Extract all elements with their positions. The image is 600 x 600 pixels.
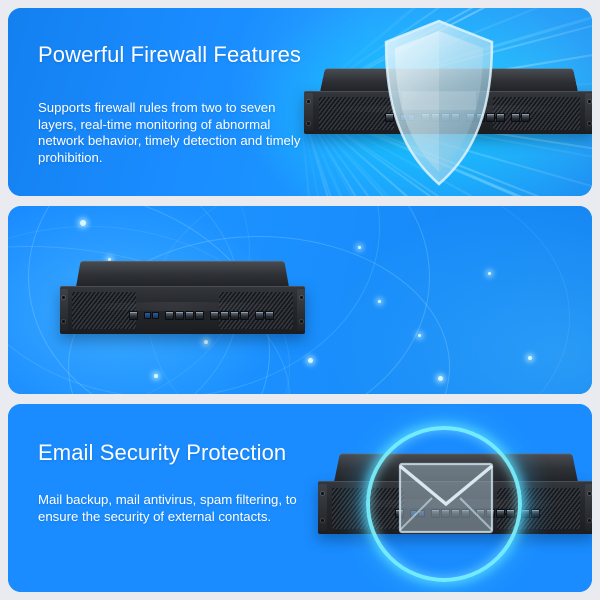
appliance-top-2 <box>76 261 289 287</box>
panel1-body: Supports firewall rules from two to seve… <box>38 100 310 166</box>
port-row-2 <box>129 305 232 326</box>
panel3-body: Mail backup, mail antivirus, spam filter… <box>38 492 310 525</box>
rack-ear-right-2 <box>297 289 305 332</box>
feature-panel-board: Powerful Firewall Features Supports fire… <box>0 0 600 600</box>
rack-ear-right-3 <box>585 484 592 531</box>
vent-grille-left-2 <box>72 292 136 329</box>
glow-ring-decoration <box>366 426 522 582</box>
panel-firewall-features: Powerful Firewall Features Supports fire… <box>8 8 592 196</box>
panel-email-security: Email Security Protection Mail backup, m… <box>8 404 592 592</box>
rack-ear-left-2 <box>60 289 68 332</box>
rack-ear-left-3 <box>318 484 327 531</box>
appliance-front-panel-2 <box>60 286 305 334</box>
panel-broadband-management: Better Broadband Management Optimize the… <box>8 206 592 394</box>
panel1-title: Powerful Firewall Features <box>38 42 301 68</box>
rack-ear-right-1 <box>585 93 592 131</box>
shield-icon <box>380 18 498 188</box>
panel3-title: Email Security Protection <box>38 440 286 466</box>
rackmount-appliance-2 <box>60 256 305 334</box>
